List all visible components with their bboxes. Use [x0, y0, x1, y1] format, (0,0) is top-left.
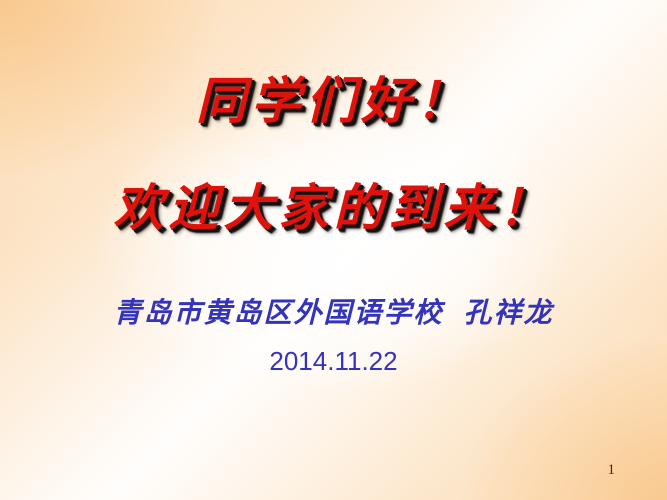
- slide-content: 同学们好！ 欢迎大家的到来！ 青岛市黄岛区外国语学校孔祥龙 2014.11.22…: [0, 0, 667, 500]
- slide-title-line-2: 欢迎大家的到来！: [0, 183, 667, 233]
- slide-date: 2014.11.22: [0, 348, 667, 374]
- slide-page-number: 1: [608, 463, 616, 478]
- affiliation-school: 青岛市黄岛区外国语学校: [113, 296, 443, 329]
- affiliation-author: 孔祥龙: [464, 296, 554, 329]
- presentation-slide: 同学们好！ 欢迎大家的到来！ 青岛市黄岛区外国语学校孔祥龙 2014.11.22…: [0, 0, 667, 500]
- slide-title-line-1: 同学们好！: [0, 76, 667, 126]
- slide-affiliation: 青岛市黄岛区外国语学校孔祥龙: [0, 299, 667, 327]
